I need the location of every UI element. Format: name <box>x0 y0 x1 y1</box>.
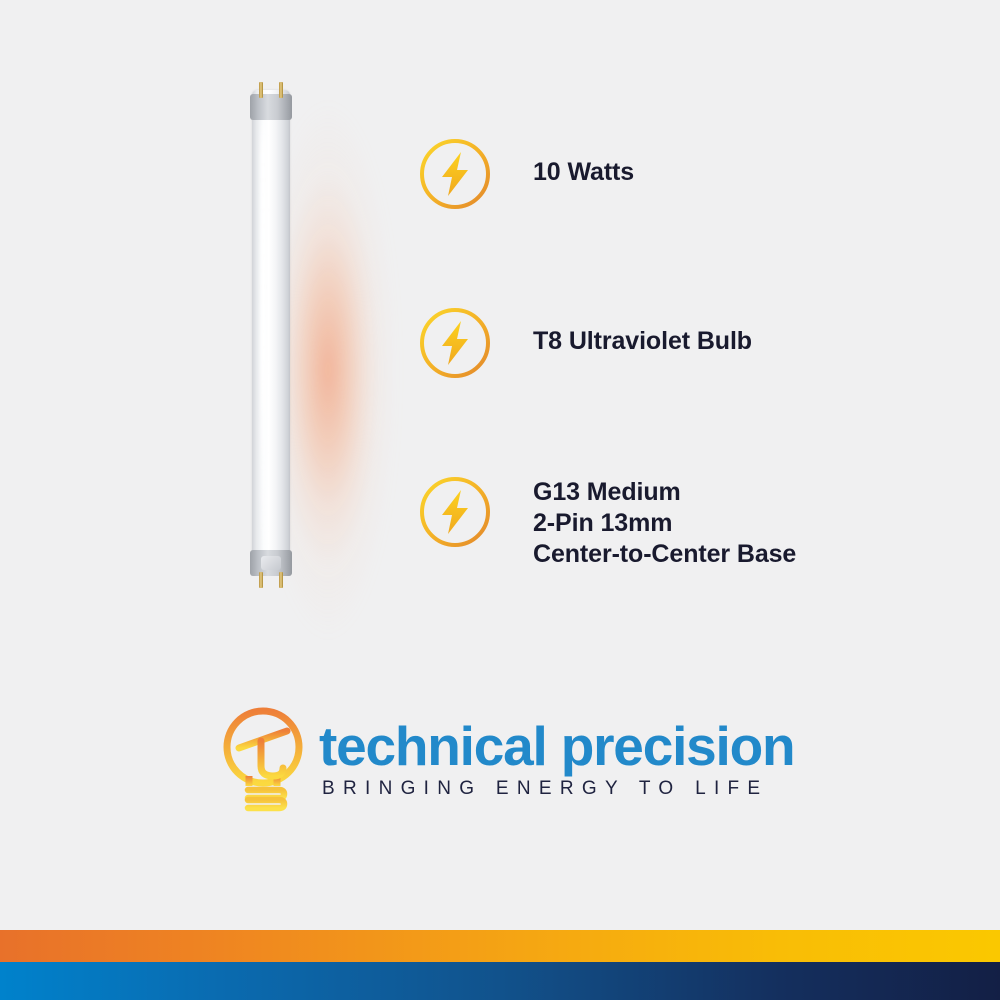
feature-label: G13 Medium 2-Pin 13mm Center-to-Center B… <box>533 472 796 570</box>
brand-tagline: BRINGING ENERGY TO LIFE <box>319 778 794 800</box>
footer-blue-bar <box>0 962 1000 1000</box>
top-pin-left <box>259 82 263 98</box>
product-image <box>180 60 400 660</box>
feature-line: T8 Ultraviolet Bulb <box>533 326 752 357</box>
bottom-pin-left <box>259 572 263 588</box>
footer-orange-bar <box>0 930 1000 962</box>
lightning-bolt-icon <box>415 303 495 383</box>
feature-label: T8 Ultraviolet Bulb <box>533 303 752 357</box>
feature-item-wattage: 10 Watts <box>415 134 935 214</box>
brand-logo: technical precision BRINGING ENERGY TO L… <box>213 700 794 822</box>
brand-wordmark: technical precision <box>319 718 794 774</box>
tube-highlight <box>260 100 266 560</box>
feature-label: 10 Watts <box>533 134 634 188</box>
bottom-pin-right <box>279 572 283 588</box>
top-pin-right <box>279 82 283 98</box>
tube-cap-top <box>250 94 292 120</box>
lightning-bolt-icon <box>415 134 495 214</box>
feature-line: Center-to-Center Base <box>533 539 796 570</box>
tube-cap-bottom <box>250 550 292 576</box>
feature-line: 10 Watts <box>533 157 634 188</box>
bulb-glow <box>210 70 400 650</box>
feature-list: 10 Watts T8 Ultraviolet Bulb <box>415 134 935 570</box>
feature-item-base-type: G13 Medium 2-Pin 13mm Center-to-Center B… <box>415 472 935 570</box>
feature-line: G13 Medium <box>533 477 796 508</box>
lightning-bolt-icon <box>415 472 495 552</box>
feature-line: 2-Pin 13mm <box>533 508 796 539</box>
lightbulb-with-t-icon <box>213 700 313 822</box>
product-spec-card: 10 Watts T8 Ultraviolet Bulb <box>0 0 1000 1000</box>
feature-item-bulb-type: T8 Ultraviolet Bulb <box>415 303 935 383</box>
tube-body <box>252 90 290 570</box>
logo-text-block: technical precision BRINGING ENERGY TO L… <box>319 718 794 804</box>
